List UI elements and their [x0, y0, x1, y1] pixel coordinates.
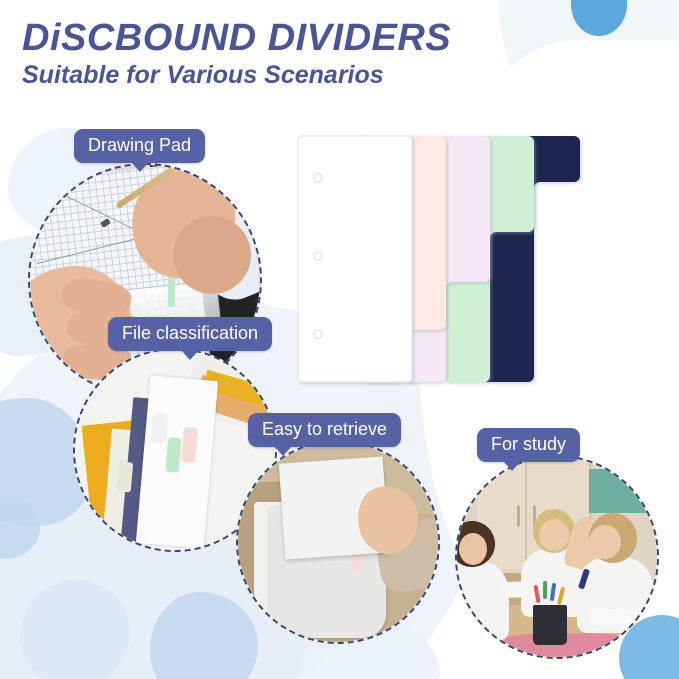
cabinet-seam: [525, 457, 527, 569]
page-header: DiSCBOUND DIVIDERS Suitable for Various …: [22, 18, 451, 90]
punch-hole: [314, 252, 322, 260]
badge-for-study: For study: [477, 428, 580, 462]
pencil-cup: [533, 605, 567, 645]
child-face: [459, 533, 487, 565]
product-divider-set: [296, 134, 632, 384]
child-face: [589, 525, 621, 559]
decor-blob-bottom-left: [20, 580, 130, 679]
cabinet-handle: [517, 505, 520, 527]
pencil: [543, 581, 547, 599]
infographic-canvas: DiSCBOUND DIVIDERS Suitable for Various …: [0, 0, 679, 679]
child-face: [539, 519, 569, 551]
badge-easy-to-retrieve: Easy to retrieve: [248, 413, 401, 447]
badge-drawing-pad: Drawing Pad: [74, 129, 205, 163]
page-subtitle: Suitable for Various Scenarios: [22, 62, 451, 90]
white-divider-tab: [152, 413, 167, 442]
notebook: [588, 607, 641, 629]
punch-hole: [314, 174, 322, 182]
easy-to-retrieve-photo: [236, 440, 440, 644]
punch-hole: [314, 330, 322, 338]
badge-file-classification: File classification: [108, 317, 272, 351]
page-title: DiSCBOUND DIVIDERS: [22, 18, 451, 58]
for-study-photo-inner: [457, 457, 657, 657]
for-study-photo: [455, 455, 659, 659]
child-body: [457, 561, 509, 641]
floor-mat: [493, 633, 641, 657]
easy-to-retrieve-photo-inner: [238, 442, 438, 642]
wall-board: [589, 469, 649, 513]
beige-divider-tab: [118, 461, 134, 492]
